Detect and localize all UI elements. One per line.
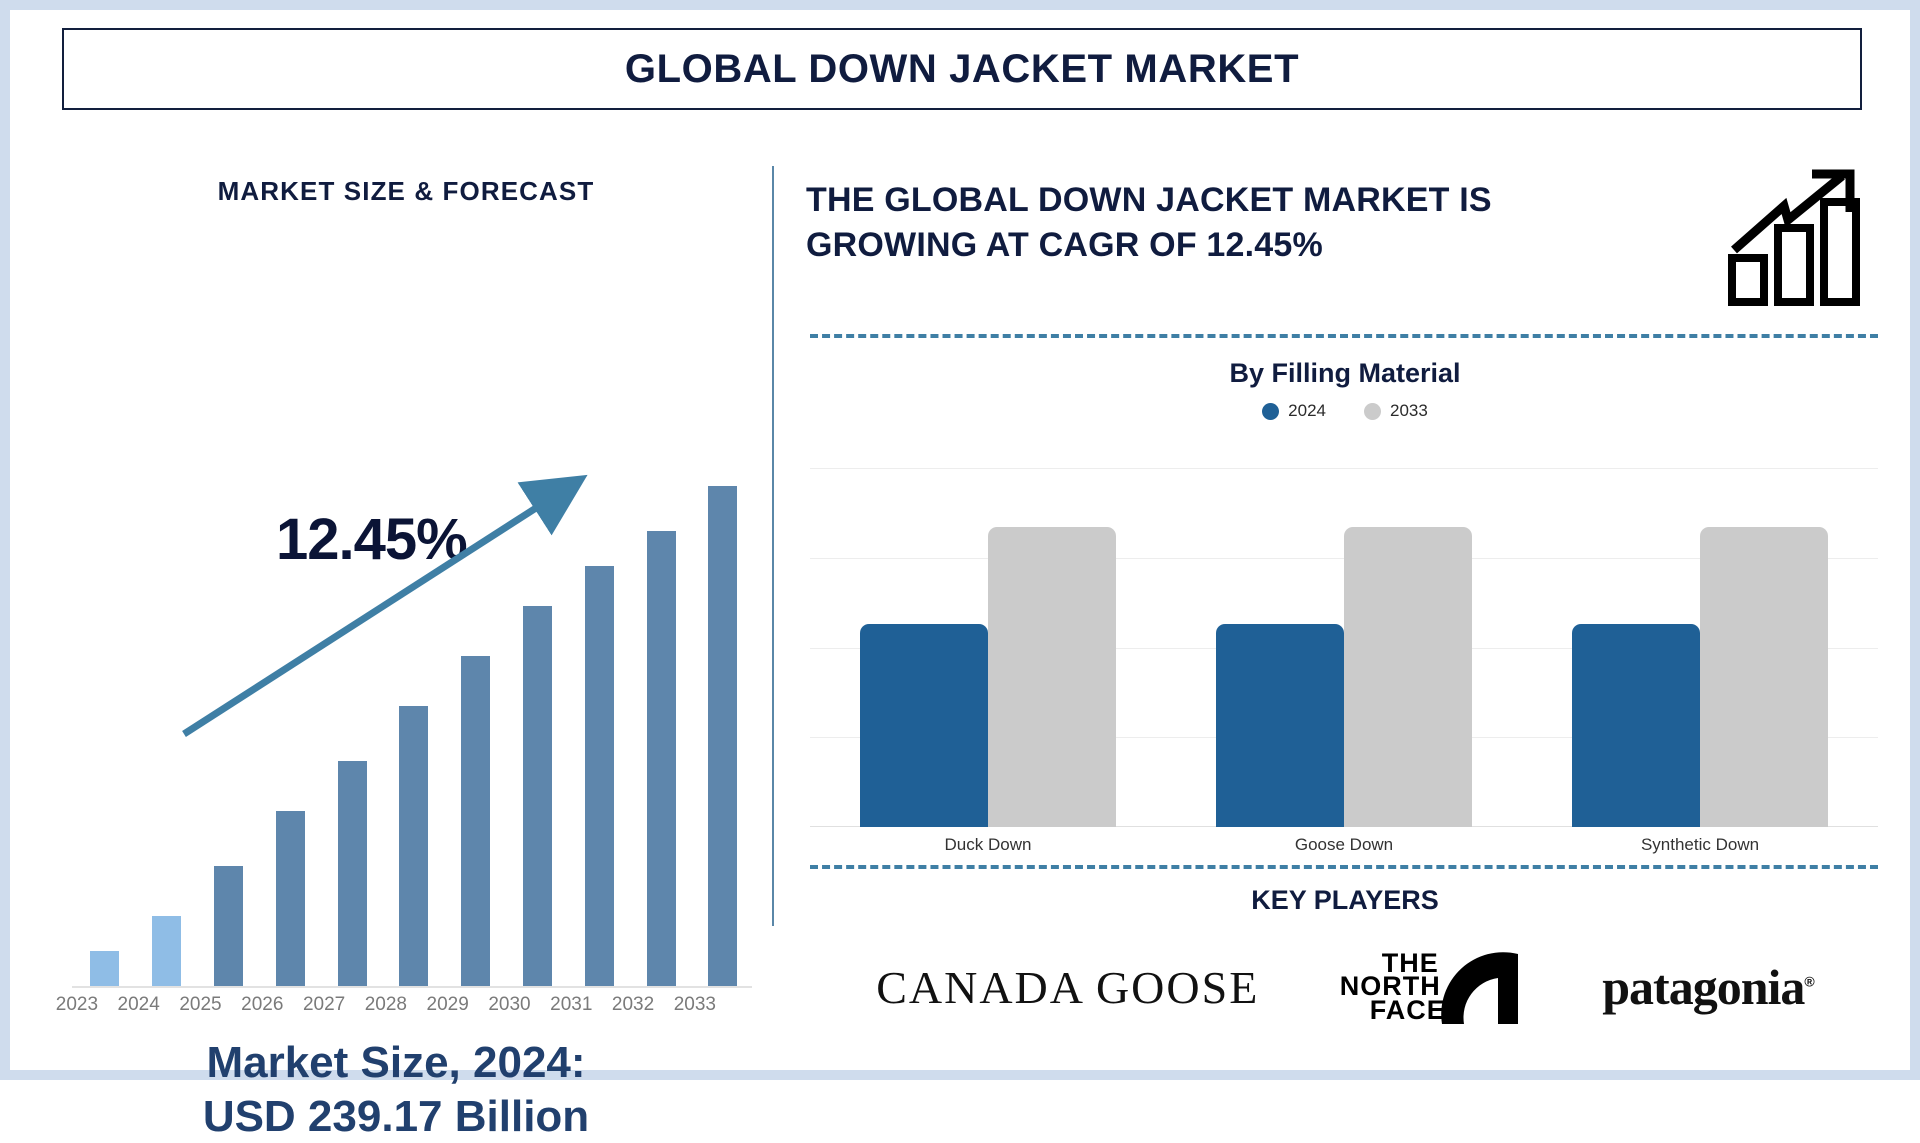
- logo-canada-goose: CANADA GOOSE: [876, 961, 1259, 1014]
- bar-2024: [152, 916, 181, 986]
- year-label-2030: 2030: [479, 994, 541, 1016]
- year-label-2026: 2026: [231, 994, 293, 1016]
- bar-2028: [399, 706, 428, 986]
- bar-group-goose-down: [1166, 437, 1522, 827]
- category-label-duck-down: Duck Down: [810, 835, 1166, 855]
- category-label-goose-down: Goose Down: [1166, 835, 1522, 855]
- legend-dot-icon: [1364, 403, 1381, 420]
- bar-2031: [585, 566, 614, 986]
- the-north-face-wordmark: THE NORTH FACE: [1340, 952, 1446, 1022]
- bar-slot: [321, 486, 383, 986]
- bar-duck-down-2033: [988, 527, 1116, 827]
- bar-goose-down-2033: [1344, 527, 1472, 827]
- half-dome-arc-icon: [1440, 948, 1522, 1026]
- filling-material-category-labels: Duck DownGoose DownSynthetic Down: [810, 835, 1878, 855]
- bar-2026: [276, 811, 305, 986]
- market-size-heading: MARKET SIZE & FORECAST: [46, 176, 766, 207]
- year-label-2024: 2024: [108, 994, 170, 1016]
- market-size-value: Market Size, 2024: USD 239.17 Billion: [36, 1036, 756, 1143]
- category-label-synthetic-down: Synthetic Down: [1522, 835, 1878, 855]
- body-row: MARKET SIZE & FORECAST 12.45% 2023202420…: [36, 136, 1884, 1046]
- key-players-logos: CANADA GOOSE THE NORTH FACE patagonia®: [806, 942, 1884, 1032]
- title-box: GLOBAL DOWN JACKET MARKET: [62, 28, 1862, 110]
- bar-slot: [259, 486, 321, 986]
- headline-row: THE GLOBAL DOWN JACKET MARKET IS GROWING…: [806, 166, 1884, 306]
- bar-slot: [74, 486, 136, 986]
- tnf-line-face: FACE: [1370, 999, 1446, 1022]
- year-label-2029: 2029: [417, 994, 479, 1016]
- key-players-title: KEY PLAYERS: [806, 885, 1884, 916]
- legend-item-2024: 2024: [1262, 401, 1326, 421]
- year-label-2031: 2031: [540, 994, 602, 1016]
- year-label-2027: 2027: [293, 994, 355, 1016]
- year-label-2023: 2023: [46, 994, 108, 1016]
- bar-duck-down-2024: [860, 624, 988, 827]
- cagr-headline: THE GLOBAL DOWN JACKET MARKET IS GROWING…: [806, 166, 1718, 268]
- year-label-2033: 2033: [664, 994, 726, 1016]
- infographic-inner: GLOBAL DOWN JACKET MARKET MARKET SIZE & …: [10, 10, 1910, 1070]
- cagr-headline-line1: THE GLOBAL DOWN JACKET MARKET IS: [806, 178, 1718, 223]
- legend-item-2033: 2033: [1364, 401, 1428, 421]
- bar-2025: [214, 866, 243, 986]
- year-label-2025: 2025: [170, 994, 232, 1016]
- market-size-value-line1: Market Size, 2024:: [36, 1036, 756, 1090]
- bar-slot: [568, 486, 630, 986]
- bar-2032: [647, 531, 676, 986]
- page-title: GLOBAL DOWN JACKET MARKET: [625, 47, 1299, 92]
- bar-slot: [136, 486, 198, 986]
- market-size-year-labels: 2023202420252026202720282029203020312032…: [46, 994, 726, 1016]
- bar-slot: [630, 486, 692, 986]
- market-size-bar-chart: [64, 466, 744, 986]
- logo-patagonia: patagonia®: [1602, 958, 1814, 1016]
- bar-2023: [90, 951, 119, 986]
- bar-2030: [523, 606, 552, 986]
- bar-2033: [708, 486, 737, 986]
- bar-goose-down-2024: [1216, 624, 1344, 827]
- legend-label: 2024: [1288, 401, 1326, 421]
- infographic-page: GLOBAL DOWN JACKET MARKET MARKET SIZE & …: [0, 0, 1920, 1080]
- legend-dot-icon: [1262, 403, 1279, 420]
- filling-material-chart: [810, 437, 1878, 827]
- logo-the-north-face: THE NORTH FACE: [1340, 948, 1522, 1026]
- bar-2027: [338, 761, 367, 986]
- cagr-headline-line2: GROWING AT CAGR OF 12.45%: [806, 223, 1718, 268]
- bar-synthetic-down-2033: [1700, 527, 1828, 827]
- market-size-panel: MARKET SIZE & FORECAST 12.45% 2023202420…: [36, 136, 766, 1046]
- segment-title: By Filling Material: [806, 358, 1884, 389]
- divider-bottom: [810, 865, 1878, 869]
- bar-slot: [383, 486, 445, 986]
- bar-group-duck-down: [810, 437, 1166, 827]
- market-size-axis: [72, 986, 752, 988]
- bar-group-synthetic-down: [1522, 437, 1878, 827]
- bar-slot: [445, 486, 507, 986]
- legend-label: 2033: [1390, 401, 1428, 421]
- bar-slot: [198, 486, 260, 986]
- panel-divider: [772, 166, 774, 926]
- right-panel: THE GLOBAL DOWN JACKET MARKET IS GROWING…: [796, 136, 1884, 1046]
- bar-synthetic-down-2024: [1572, 624, 1700, 827]
- market-size-value-line2: USD 239.17 Billion: [36, 1090, 756, 1143]
- divider-top: [810, 334, 1878, 338]
- growth-bar-chart-arrow-icon: [1726, 166, 1876, 306]
- patagonia-trademark: ®: [1804, 973, 1813, 989]
- bar-slot: [692, 486, 754, 986]
- bar-2029: [461, 656, 490, 986]
- year-label-2028: 2028: [355, 994, 417, 1016]
- market-size-bars: [74, 486, 754, 986]
- segment-legend: 20242033: [806, 401, 1884, 421]
- filling-material-bar-groups: [810, 437, 1878, 827]
- bar-slot: [507, 486, 569, 986]
- patagonia-wordmark: patagonia: [1602, 959, 1804, 1015]
- year-label-2032: 2032: [602, 994, 664, 1016]
